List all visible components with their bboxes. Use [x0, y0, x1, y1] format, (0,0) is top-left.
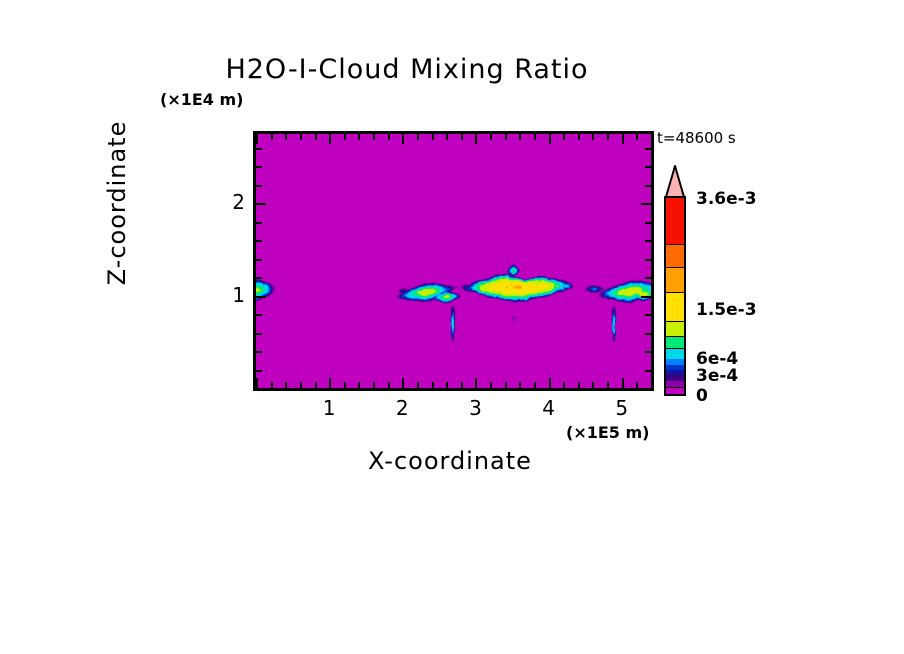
plot-area — [253, 131, 654, 391]
y-axis-label: Z-coordinate — [103, 103, 131, 303]
x-minor-tick-top — [607, 134, 609, 140]
y-minor-tick-right — [645, 222, 651, 224]
x-minor-tick-top — [636, 134, 638, 140]
y-minor-tick-right — [645, 370, 651, 372]
y-minor-tick — [256, 314, 262, 316]
x-minor-tick — [534, 382, 536, 388]
figure-title-text: H2O-I-Cloud Mixing Ratio — [225, 54, 588, 85]
x-minor-tick-top — [388, 134, 390, 140]
colorbar-band — [666, 243, 684, 267]
y-major-tick — [256, 296, 266, 298]
x-minor-tick — [388, 382, 390, 388]
x-minor-tick — [315, 382, 317, 388]
x-major-tick — [329, 378, 331, 388]
x-axis-label: X-coordinate — [0, 447, 904, 475]
x-minor-tick-top — [271, 134, 273, 140]
x-major-tick — [622, 378, 624, 388]
x-minor-tick-top — [505, 134, 507, 140]
x-major-tick — [402, 378, 404, 388]
x-minor-tick-top — [519, 134, 521, 140]
x-minor-tick — [417, 382, 419, 388]
x-minor-tick — [446, 382, 448, 388]
x-minor-tick-top — [563, 134, 565, 140]
x-minor-tick — [271, 382, 273, 388]
colorbar-band — [666, 320, 684, 336]
y-minor-tick-right — [645, 185, 651, 187]
x-minor-tick-top — [300, 134, 302, 140]
colorbar-tick-label: 3e-4 — [696, 366, 738, 386]
x-minor-tick — [592, 382, 594, 388]
x-axis-label-text: X-coordinate — [368, 447, 532, 475]
x-minor-tick-top — [446, 134, 448, 140]
x-minor-tick-top — [285, 134, 287, 140]
x-minor-tick — [563, 382, 565, 388]
y-major-tick-right — [641, 203, 651, 205]
x-minor-tick-top — [432, 134, 434, 140]
y-minor-tick-right — [645, 314, 651, 316]
x-minor-tick-top — [358, 134, 360, 140]
x-minor-tick-top — [461, 134, 463, 140]
y-minor-tick — [256, 185, 262, 187]
x-major-tick-top — [549, 134, 551, 144]
colorbar-tick-label: 1.5e-3 — [696, 300, 757, 320]
x-major-tick — [549, 378, 551, 388]
figure-title: H2O-I-Cloud Mixing Ratio — [0, 54, 904, 85]
x-minor-tick — [358, 382, 360, 388]
y-minor-tick-right — [645, 277, 651, 279]
x-minor-tick — [578, 382, 580, 388]
y-axis-unit-label: (×1E4 m) — [160, 90, 243, 109]
x-tick-label: 4 — [534, 396, 564, 420]
colorbar-band — [666, 196, 684, 244]
y-minor-tick-right — [645, 166, 651, 168]
y-minor-tick-right — [645, 333, 651, 335]
x-minor-tick — [300, 382, 302, 388]
contour-field — [256, 134, 651, 388]
x-major-tick-top — [622, 134, 624, 144]
x-major-tick — [256, 378, 258, 388]
x-minor-tick — [519, 382, 521, 388]
x-minor-tick — [373, 382, 375, 388]
x-tick-label: 5 — [607, 396, 637, 420]
x-minor-tick-top — [592, 134, 594, 140]
y-minor-tick — [256, 351, 262, 353]
timestamp-annotation: t=48600 s — [657, 129, 736, 147]
y-major-tick — [256, 203, 266, 205]
x-minor-tick — [285, 382, 287, 388]
y-major-tick-right — [641, 296, 651, 298]
colorbar — [664, 196, 686, 396]
colorbar-band — [666, 375, 684, 381]
x-minor-tick-top — [417, 134, 419, 140]
colorbar-band — [666, 335, 684, 348]
y-minor-tick — [256, 370, 262, 372]
x-minor-tick-top — [315, 134, 317, 140]
x-tick-label: 1 — [314, 396, 344, 420]
y-major-tick — [256, 388, 266, 390]
colorbar-band — [666, 291, 684, 321]
x-major-tick-top — [402, 134, 404, 144]
x-major-tick-top — [475, 134, 477, 144]
y-minor-tick — [256, 222, 262, 224]
x-minor-tick — [432, 382, 434, 388]
x-major-tick-top — [329, 134, 331, 144]
x-minor-tick — [490, 382, 492, 388]
colorbar-band — [666, 266, 684, 292]
x-major-tick-top — [256, 134, 258, 144]
y-minor-tick-right — [645, 240, 651, 242]
y-minor-tick — [256, 333, 262, 335]
y-major-tick-right — [641, 388, 651, 390]
colorbar-band — [666, 369, 684, 375]
colorbar-band — [666, 358, 684, 364]
y-minor-tick — [256, 166, 262, 168]
y-minor-tick-right — [645, 351, 651, 353]
x-minor-tick — [461, 382, 463, 388]
colorbar-tick-label: 0 — [696, 386, 708, 406]
x-minor-tick — [651, 382, 653, 388]
figure-canvas: H2O-I-Cloud Mixing Ratio (×1E4 m) t=4860… — [0, 0, 904, 654]
y-minor-tick-right — [645, 259, 651, 261]
x-minor-tick-top — [373, 134, 375, 140]
y-minor-tick — [256, 277, 262, 279]
x-minor-tick — [607, 382, 609, 388]
x-tick-label: 2 — [387, 396, 417, 420]
x-minor-tick-top — [651, 134, 653, 140]
x-minor-tick — [505, 382, 507, 388]
x-major-tick — [475, 378, 477, 388]
colorbar-band — [666, 347, 684, 359]
x-minor-tick-top — [344, 134, 346, 140]
x-minor-tick — [344, 382, 346, 388]
colorbar-extend-arrow — [664, 165, 686, 198]
x-minor-tick-top — [578, 134, 580, 140]
colorbar-band — [666, 380, 684, 387]
x-minor-tick-top — [534, 134, 536, 140]
x-axis-unit-label: (×1E5 m) — [566, 423, 649, 442]
x-tick-label: 3 — [460, 396, 490, 420]
y-minor-tick — [256, 148, 262, 150]
y-tick-label: 1 — [215, 283, 245, 307]
y-minor-tick — [256, 259, 262, 261]
y-minor-tick — [256, 240, 262, 242]
x-minor-tick — [636, 382, 638, 388]
colorbar-tick-label: 3.6e-3 — [696, 189, 757, 209]
x-minor-tick-top — [490, 134, 492, 140]
y-minor-tick-right — [645, 148, 651, 150]
y-tick-label: 2 — [215, 190, 245, 214]
colorbar-band — [666, 364, 684, 370]
